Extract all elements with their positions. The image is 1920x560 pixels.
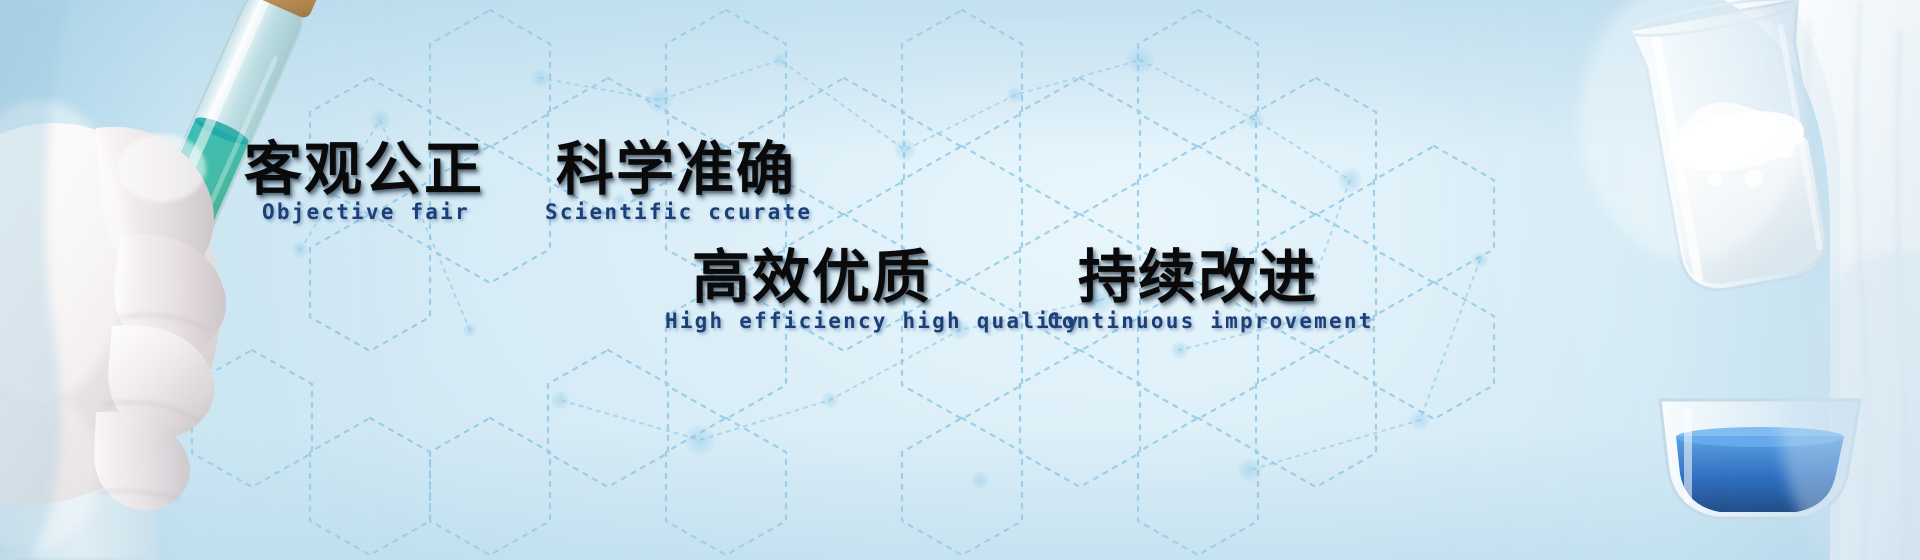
gloved-hand-test-tube-image (0, 0, 420, 560)
headline-continuous-improvement: 持续改进 (1078, 248, 1318, 306)
headline-high-efficiency: 高效优质 (692, 248, 932, 306)
headline-objective-fair: 客观公正 (244, 140, 484, 198)
subtitle-continuous-improvement: Continuous improvement (1047, 311, 1374, 332)
headline-scientific-accurate: 科学准确 (556, 140, 796, 198)
subtitle-scientific-accurate: Scientific ccurate (545, 202, 812, 223)
subtitle-objective-fair: Objective fair (262, 202, 470, 223)
laboratory-banner: 客观公正 Objective fair 科学准确 Scientific ccur… (0, 0, 1920, 560)
lab-coat-beaker-image (1360, 0, 1920, 560)
subtitle-high-efficiency: High efficiency high quality (665, 311, 1081, 332)
